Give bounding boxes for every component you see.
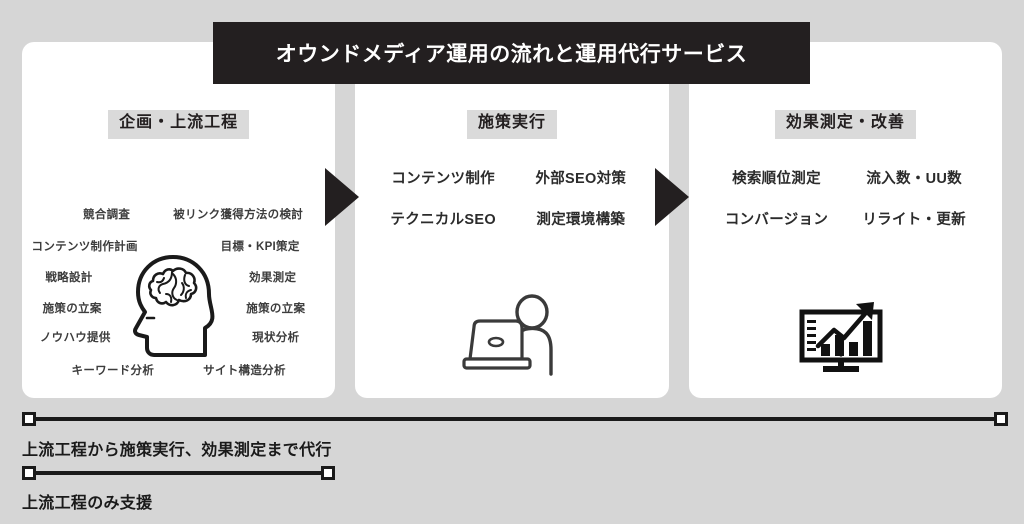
execution-item: テクニカルSEO: [390, 208, 496, 229]
keyword-item: 競合調査: [83, 206, 130, 222]
monitor-growth-chart-icon: [798, 294, 892, 378]
measurement-item: 流入数・UU数: [866, 167, 962, 188]
process-card-execution: 施策実行 コンテンツ制作 外部SEO対策 テクニカルSEO 測定環境構築: [355, 42, 668, 398]
process-card-measurement: 効果測定・改善 検索順位測定 流入数・UU数 コンバージョン リライト・更新: [689, 42, 1002, 398]
scope-bar-line: [22, 471, 335, 475]
diagram-canvas: 企画・上流工程 競合調査 被リンク獲得方法の検討 コンテンツ制作計画 目標・KP…: [0, 0, 1024, 524]
keyword-item: サイト構造分析: [203, 362, 286, 378]
measurement-item-grid: 検索順位測定 流入数・UU数 コンバージョン リライト・更新: [711, 167, 980, 229]
scope-bar-upstream: [22, 466, 335, 480]
flow-arrow-1: [325, 168, 381, 226]
execution-item: 測定環境構築: [536, 208, 625, 229]
measurement-item: コンバージョン: [725, 208, 828, 229]
page-title: オウンドメディア運用の流れと運用代行サービス: [276, 38, 748, 68]
keyword-item: 施策の立案: [246, 300, 305, 316]
execution-item: 外部SEO対策: [535, 167, 626, 188]
scope-caption-upstream: 上流工程のみ支援: [22, 489, 152, 513]
title-banner: オウンドメディア運用の流れと運用代行サービス: [213, 22, 810, 84]
execution-item: コンテンツ制作: [391, 167, 495, 188]
keyword-item: 戦略設計: [45, 269, 92, 285]
execution-item-grid: コンテンツ制作 外部SEO対策 テクニカルSEO 測定環境構築: [377, 167, 646, 229]
card-heading-label: 効果測定・改善: [775, 110, 916, 139]
flow-arrow-2: [655, 168, 711, 226]
scope-bar-cap-left: [22, 466, 36, 480]
scope-caption-full: 上流工程から施策実行、効果測定まで代行: [22, 436, 332, 460]
process-card-planning: 企画・上流工程 競合調査 被リンク獲得方法の検討 コンテンツ制作計画 目標・KP…: [22, 42, 335, 398]
person-laptop-icon: [460, 292, 564, 380]
head-brain-icon: [127, 250, 231, 362]
keyword-item: コンテンツ制作計画: [32, 238, 138, 254]
scope-bar-cap-right: [321, 466, 335, 480]
scope-bar-full: [22, 412, 1008, 426]
measurement-item: 検索順位測定: [732, 167, 821, 188]
scope-bar-cap-right: [994, 412, 1008, 426]
keyword-item: ノウハウ提供: [40, 329, 111, 345]
keyword-item: 目標・KPI策定: [221, 238, 300, 254]
process-cards-row: 企画・上流工程 競合調査 被リンク獲得方法の検討 コンテンツ制作計画 目標・KP…: [22, 42, 1002, 398]
measurement-item: リライト・更新: [862, 208, 966, 229]
scope-bar-line: [22, 417, 1008, 421]
keyword-item: キーワード分析: [72, 362, 155, 378]
keyword-item: 施策の立案: [43, 300, 102, 316]
card-heading-execution: 施策実行: [355, 110, 668, 139]
card-heading-label: 施策実行: [467, 110, 557, 139]
keyword-item: 被リンク獲得方法の検討: [173, 206, 303, 222]
card-heading-measurement: 効果測定・改善: [689, 110, 1002, 139]
keyword-item: 現状分析: [252, 329, 299, 345]
keyword-item: 効果測定: [249, 269, 296, 285]
scope-bar-cap-left: [22, 412, 36, 426]
keyword-cloud: 競合調査 被リンク獲得方法の検討 コンテンツ制作計画 目標・KPI策定 戦略設計…: [22, 42, 335, 398]
